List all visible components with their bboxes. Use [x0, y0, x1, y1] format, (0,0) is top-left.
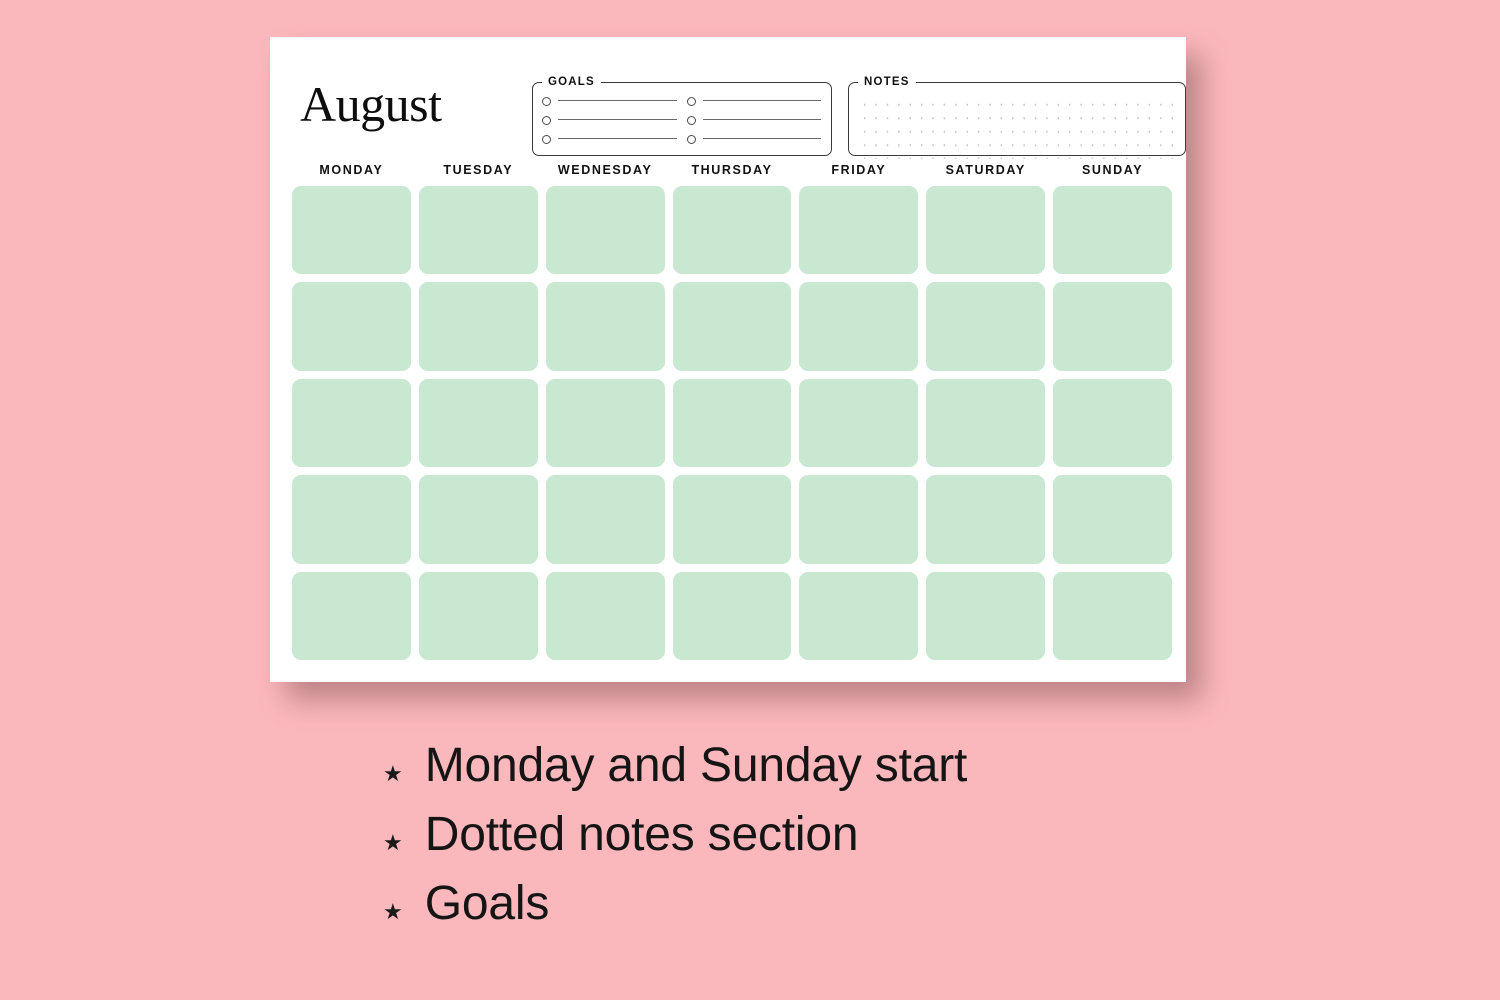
day-cell[interactable]	[926, 572, 1045, 660]
star-bullet-icon: ★	[383, 901, 403, 923]
weekday-header-tuesday: TUESDAY	[419, 160, 538, 180]
circle-checkbox-icon[interactable]	[687, 135, 696, 144]
feature-item: ★ Goals	[383, 880, 1143, 949]
goal-write-line[interactable]	[558, 100, 677, 101]
day-cell[interactable]	[926, 475, 1045, 563]
day-cell[interactable]	[799, 572, 918, 660]
day-cell[interactable]	[419, 379, 538, 467]
day-cell[interactable]	[546, 572, 665, 660]
calendar-grid	[292, 186, 1172, 660]
day-cell[interactable]	[673, 379, 792, 467]
goals-legend: GOALS	[542, 77, 601, 89]
weekday-header-friday: FRIDAY	[799, 160, 918, 180]
day-cell[interactable]	[1053, 475, 1172, 563]
planner-sheet: August GOALS	[270, 37, 1186, 682]
day-cell[interactable]	[546, 475, 665, 563]
star-bullet-icon: ★	[383, 763, 403, 785]
circle-checkbox-icon[interactable]	[542, 135, 551, 144]
day-cell[interactable]	[799, 379, 918, 467]
weekday-header-sunday: SUNDAY	[1053, 160, 1172, 180]
feature-list: ★ Monday and Sunday start ★ Dotted notes…	[383, 742, 1143, 949]
feature-item: ★ Monday and Sunday start	[383, 742, 1143, 811]
weekday-header-thursday: THURSDAY	[673, 160, 792, 180]
circle-checkbox-icon[interactable]	[687, 116, 696, 125]
day-cell[interactable]	[673, 282, 792, 370]
feature-label: Dotted notes section	[425, 811, 859, 859]
day-cell[interactable]	[546, 186, 665, 274]
goal-row[interactable]	[542, 111, 677, 130]
day-cell[interactable]	[546, 379, 665, 467]
goals-grid	[533, 89, 831, 153]
notes-dotted-area[interactable]	[857, 95, 1177, 159]
day-cell[interactable]	[799, 282, 918, 370]
circle-checkbox-icon[interactable]	[687, 97, 696, 106]
goal-write-line[interactable]	[703, 119, 822, 120]
goal-row[interactable]	[687, 111, 822, 130]
goal-row[interactable]	[542, 92, 677, 111]
day-cell[interactable]	[1053, 572, 1172, 660]
star-bullet-icon: ★	[383, 832, 403, 854]
day-cell[interactable]	[799, 475, 918, 563]
goal-write-line[interactable]	[703, 100, 822, 101]
day-cell[interactable]	[292, 475, 411, 563]
day-cell[interactable]	[673, 186, 792, 274]
day-cell[interactable]	[546, 282, 665, 370]
feature-item: ★ Dotted notes section	[383, 811, 1143, 880]
weekday-header-row: MONDAY TUESDAY WEDNESDAY THURSDAY FRIDAY…	[292, 160, 1172, 180]
day-cell[interactable]	[673, 572, 792, 660]
day-cell[interactable]	[292, 572, 411, 660]
day-cell[interactable]	[926, 282, 1045, 370]
day-cell[interactable]	[419, 186, 538, 274]
weekday-header-saturday: SATURDAY	[926, 160, 1045, 180]
day-cell[interactable]	[292, 186, 411, 274]
sheet-inner: August GOALS	[292, 55, 1172, 668]
day-cell[interactable]	[1053, 186, 1172, 274]
day-cell[interactable]	[926, 379, 1045, 467]
goal-write-line[interactable]	[703, 138, 822, 139]
feature-label: Goals	[425, 880, 549, 928]
sheet-header: August GOALS	[292, 55, 1172, 158]
feature-label: Monday and Sunday start	[425, 742, 967, 790]
day-cell[interactable]	[1053, 379, 1172, 467]
day-cell[interactable]	[799, 186, 918, 274]
month-title: August	[300, 79, 441, 129]
weekday-header-monday: MONDAY	[292, 160, 411, 180]
day-cell[interactable]	[1053, 282, 1172, 370]
day-cell[interactable]	[292, 379, 411, 467]
goal-row[interactable]	[687, 130, 822, 149]
goal-row[interactable]	[542, 130, 677, 149]
goal-write-line[interactable]	[558, 119, 677, 120]
day-cell[interactable]	[926, 186, 1045, 274]
goal-write-line[interactable]	[558, 138, 677, 139]
goals-section: GOALS	[532, 77, 832, 156]
goal-row[interactable]	[687, 92, 822, 111]
day-cell[interactable]	[673, 475, 792, 563]
weekday-header-wednesday: WEDNESDAY	[546, 160, 665, 180]
day-cell[interactable]	[419, 475, 538, 563]
notes-section: NOTES	[848, 77, 1186, 156]
circle-checkbox-icon[interactable]	[542, 97, 551, 106]
circle-checkbox-icon[interactable]	[542, 116, 551, 125]
day-cell[interactable]	[419, 572, 538, 660]
day-cell[interactable]	[292, 282, 411, 370]
notes-legend: NOTES	[858, 77, 916, 89]
day-cell[interactable]	[419, 282, 538, 370]
